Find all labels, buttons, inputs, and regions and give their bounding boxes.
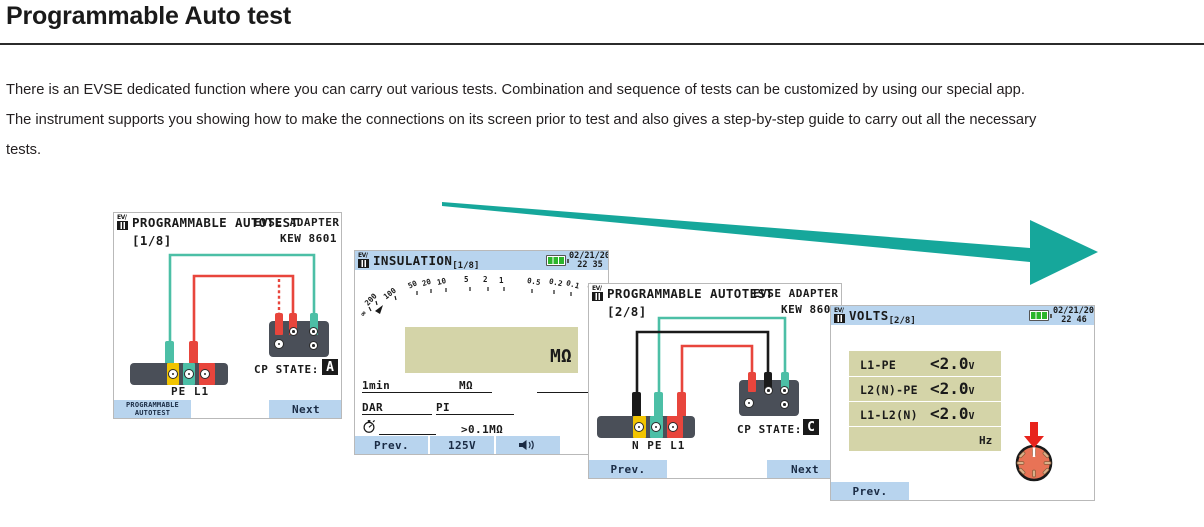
adapter-plug-red <box>748 372 756 392</box>
volts-row-value-l1-pe: <2.0V <box>930 354 975 373</box>
screen-volts[interactable]: EV/ VOLTS[2/8] 02/21/2023 22 46 L1-PE <2… <box>830 305 1095 501</box>
plug-l1 <box>677 392 686 418</box>
volts-value-text-2: <2.0 <box>930 379 969 398</box>
volts-value-text-1: <2.0 <box>930 354 969 373</box>
volts-unit-2: V <box>969 386 975 397</box>
softkey-label-line2: AUTOTEST <box>135 409 170 417</box>
softkey-next-label: Next <box>292 403 320 416</box>
screen-programmable-autotest-1[interactable]: EV/ PROGRAMMABLE AUTOTEST [1/8] EVSE ADA… <box>113 212 342 419</box>
intro-line-1: There is an EVSE dedicated function wher… <box>6 75 1186 105</box>
header-time: 22 46 <box>1053 316 1095 325</box>
screen-1-wiring-diagram <box>114 213 342 419</box>
volts-row-label-l1-l2n: L1-L2(N) <box>860 408 918 422</box>
port-ring-yellow <box>168 369 178 379</box>
volts-row-label-l2n-pe: L2(N)-PE <box>860 383 918 397</box>
port-ring-n <box>634 422 644 432</box>
screen-insulation[interactable]: EV/ INSULATION[1/8] 02/21/2023 22 35 ∞ 2… <box>354 250 609 455</box>
speaker-icon <box>518 439 538 451</box>
adapter-ring-1 <box>744 398 754 408</box>
field-mohm-label: MΩ <box>459 379 473 392</box>
cp-state-badge: A <box>322 359 338 375</box>
volts-unit-3: V <box>969 411 975 422</box>
insulation-threshold: >0.1MΩ <box>461 423 503 436</box>
volts-unit-1: V <box>969 361 975 372</box>
adapter-ring-1 <box>274 339 284 349</box>
field-1min-label: 1min <box>362 379 390 392</box>
down-arrow-icon <box>1019 422 1049 452</box>
field-pi-rule <box>436 414 514 415</box>
ev-icon-label: EV/ <box>834 307 843 314</box>
screen-2-name-text: INSULATION <box>373 253 452 268</box>
port-ring-pe <box>651 422 661 432</box>
softkey-label-line1: PROGRAMMABLE <box>126 401 179 409</box>
ev-icon-label: EV/ <box>358 252 367 259</box>
adapter-ring-3 <box>780 386 789 395</box>
cp-state-label: CP STATE: <box>254 363 319 376</box>
terminal-labels: N PE L1 <box>632 439 685 452</box>
port-ring-l1 <box>200 369 210 379</box>
softkey-programmable-autotest[interactable]: PROGRAMMABLE AUTOTEST <box>114 400 191 418</box>
cp-state-badge: C <box>803 419 819 435</box>
field-dar-label: DAR <box>362 401 383 414</box>
screen-programmable-autotest-2[interactable]: EV/ PROGRAMMABLE AUTOTEST [2/8] EVSE ADA… <box>588 283 842 479</box>
field-mohm-rule <box>459 392 492 393</box>
volts-value-text-3: <2.0 <box>930 404 969 423</box>
ev-icon-glyph <box>834 314 845 323</box>
ev-mode-icon: EV/ <box>358 252 372 269</box>
screen-4-step: [2/8] <box>889 316 916 326</box>
insulation-readout-unit: MΩ <box>550 346 572 367</box>
softkey-prev-label: Prev. <box>852 485 887 498</box>
volts-row-value-l2n-pe: <2.0V <box>930 379 975 398</box>
softkey-next[interactable]: Next <box>269 400 342 418</box>
timer-icon <box>362 419 376 433</box>
battery-full-icon <box>546 255 566 266</box>
terminal-labels: PE L1 <box>171 385 209 398</box>
softkey-speaker[interactable] <box>496 436 560 454</box>
volts-row-value-l1-l2n: <2.0V <box>930 404 975 423</box>
screen-4-name: VOLTS[2/8] <box>849 308 916 326</box>
volts-row-label-l1-pe: L1-PE <box>860 358 896 372</box>
softkey-125v-label: 125V <box>448 439 476 452</box>
plug-pe <box>654 392 663 418</box>
adapter-ring-4 <box>309 341 318 350</box>
intro-line-2: The instrument supports you showing how … <box>6 105 1186 135</box>
adapter-plug-red-1 <box>275 313 283 335</box>
screen-2-step: [1/8] <box>452 261 479 271</box>
screen-3-wiring-diagram <box>589 284 842 479</box>
softkey-prev-label: Prev. <box>374 439 409 452</box>
ev-mode-icon: EV/ <box>834 307 848 324</box>
title-divider <box>0 43 1204 45</box>
plug-n <box>632 392 641 418</box>
screen-4-name-text: VOLTS <box>849 308 889 323</box>
adapter-ring-3 <box>309 327 318 336</box>
softkey-prev[interactable]: Prev. <box>589 460 667 478</box>
adapter-ring-2 <box>289 327 298 336</box>
softkey-prev[interactable]: Prev. <box>355 436 428 454</box>
volts-frequency-unit: Hz <box>979 434 992 447</box>
port-ring-l1 <box>668 422 678 432</box>
intro-paragraph: There is an EVSE dedicated function wher… <box>6 75 1186 165</box>
volts-row-sep-2 <box>849 401 1001 402</box>
ev-icon-glyph <box>358 259 369 268</box>
intro-line-3: tests. <box>6 135 1186 165</box>
softkey-next-label: Next <box>791 463 819 476</box>
page-title: Programmable Auto test <box>6 2 291 31</box>
softkey-125v[interactable]: 125V <box>430 436 494 454</box>
softkey-prev[interactable]: Prev. <box>831 482 909 500</box>
softkey-prev-label: Prev. <box>610 463 645 476</box>
adapter-ring-2 <box>764 386 773 395</box>
port-ring-pe <box>184 369 194 379</box>
volts-row-sep-3 <box>849 426 1001 427</box>
field-pi-label: PI <box>436 401 450 414</box>
adapter-ring-4 <box>780 400 789 409</box>
volts-row-sep-1 <box>849 376 1001 377</box>
scale-ticks <box>355 281 609 315</box>
battery-full-icon <box>1029 310 1049 321</box>
screen-2-name: INSULATION[1/8] <box>373 253 479 271</box>
cp-state-label: CP STATE: <box>737 423 802 436</box>
header-time: 22 35 <box>569 261 609 270</box>
field-dar-rule <box>362 414 432 415</box>
